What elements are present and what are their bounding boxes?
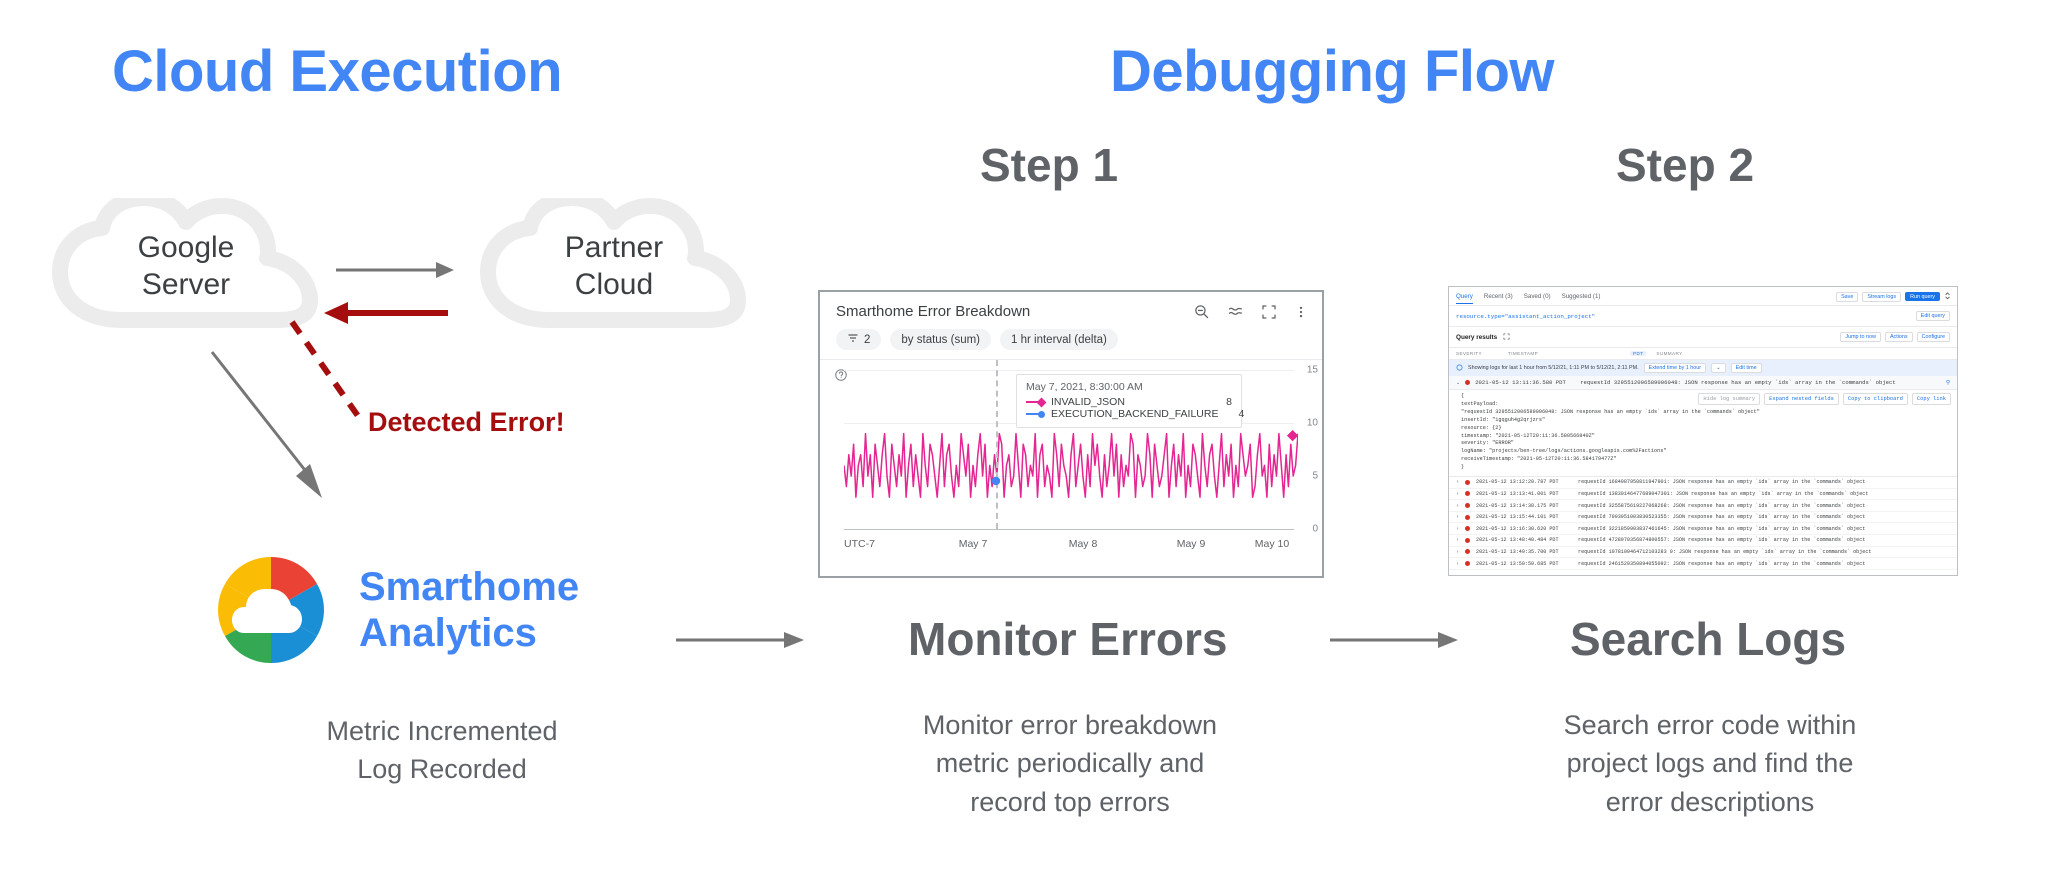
collapse-row-icon[interactable]: ⌄ [1456,380,1460,386]
chart-tooltip: May 7, 2021, 8:30:00 AM INVALID_JSON 8 E… [1016,374,1242,428]
expand-row-icon[interactable]: › [1456,503,1459,509]
arrow-google-to-analytics-icon [212,352,342,507]
severity-error-icon [1465,538,1470,543]
table-row[interactable]: › 2021-05-12 13:16:30.620 PDT requestId … [1449,523,1957,535]
arrow-analytics-to-step1-icon [676,628,806,652]
ytick-10: 10 [1307,418,1318,429]
step2-title: Step 2 [1616,138,1754,192]
expand-row-icon[interactable]: › [1456,549,1459,555]
json-line: resource: {2} [1461,425,1950,433]
row-summary: requestId 3221859903837461645: JSON resp… [1578,526,1865,532]
cloud-execution-caption: Metric Incremented Log Recorded [232,712,652,789]
row-summary: requestId 4728970356874800557: JSON resp… [1578,537,1865,543]
ytick-15: 15 [1307,365,1318,376]
fullscreen-icon[interactable] [1261,304,1277,320]
time-range-banner: Showing logs for last 1 hour from 5/12/2… [1449,360,1957,376]
logs-row-list: › 2021-05-12 13:12:20.787 PDT requestId … [1449,477,1957,570]
chart-card-header: Smarthome Error Breakdown [820,292,1322,322]
chart-type-icon[interactable] [1227,303,1244,320]
expand-row-icon[interactable]: › [1456,514,1459,520]
expand-row-icon[interactable]: › [1456,537,1459,543]
tooltip-series-name-1: INVALID_JSON [1051,396,1206,408]
monitoring-chart-card[interactable]: Smarthome Error Breakdown [818,290,1324,578]
selected-row-timestamp: 2021-05-12 13:11:36.580 PDT [1475,379,1575,386]
step2-caption: Search error code within project logs an… [1490,706,1930,821]
row-summary: requestId 1078109464712103283 0: JSON re… [1578,549,1871,555]
chip-filter[interactable]: 2 [836,329,881,350]
highlight-point-blue-icon [990,475,1002,487]
chart-cursor-line [996,360,998,529]
chart-plot-area[interactable]: 15 10 5 0 May 7, 2021, 8:30:00 AM INVALI… [820,359,1322,574]
col-timestamp: TIMESTAMP [1508,351,1620,356]
tooltip-series-name-2: EXECUTION_BACKEND_FAILURE [1051,408,1218,420]
col-severity: SEVERITY [1456,351,1498,356]
step2-caption-line-1: Search error code within [1490,706,1930,744]
severity-error-icon [1465,503,1470,508]
detected-error-label: Detected Error! [368,407,565,438]
row-summary: requestId 13830146477689047301: JSON res… [1578,491,1868,497]
selected-log-row[interactable]: ⌄ 2021-05-12 13:11:36.580 PDT requestId … [1449,376,1957,390]
ytick-5: 5 [1312,471,1318,482]
step1-caption-line-2: metric periodically and [860,744,1280,782]
extend-time-dropdown[interactable]: ⌄ [1711,363,1726,373]
partner-cloud: Partner Cloud [480,198,748,328]
json-line: } [1461,464,1950,472]
row-timestamp: 2021-05-12 13:48:40.484 PDT [1476,537,1572,543]
table-row[interactable]: › 2021-05-12 13:12:20.787 PDT requestId … [1449,477,1957,489]
expand-results-icon[interactable] [1503,333,1510,342]
zoom-out-icon[interactable] [1193,303,1210,320]
partner-cloud-line2: Cloud [575,267,653,304]
logs-column-headers: SEVERITY TIMESTAMP PDT SUMMARY [1449,348,1957,360]
tab-suggested[interactable]: Suggested (1) [1562,293,1601,303]
severity-error-icon [1465,380,1470,385]
row-timestamp: 2021-05-12 13:49:35.700 PDT [1476,549,1572,555]
severity-error-icon [1465,549,1470,554]
xtick-may9: May 9 [1177,538,1206,550]
chip-interval-label: 1 hr interval (delta) [1011,334,1107,346]
google-server-line1: Google [138,230,235,267]
table-row[interactable]: › 2021-05-12 13:15:44.101 PDT requestId … [1449,512,1957,524]
query-editor-row[interactable]: resource.type="assistant_action_project"… [1449,306,1957,327]
tooltip-series-value-1: 8 [1226,396,1232,408]
json-line: insertId: "1gqguh4g2qrjzrs" [1461,417,1950,425]
json-line: timestamp: "2021-05-12T20:11:36.58056684… [1461,433,1950,441]
json-line: "requestId 3295512006589006048: JSON res… [1461,409,1950,417]
json-line: severity: "ERROR" [1461,440,1950,448]
json-line: receiveTimestamp: "2021-05-12T20:11:36.5… [1461,456,1950,464]
row-timestamp: 2021-05-12 13:50:50.685 PDT [1476,561,1572,567]
table-row[interactable]: › 2021-05-12 13:50:50.685 PDT requestId … [1449,558,1957,570]
row-summary: requestId 1684987950811947901: JSON resp… [1578,479,1865,485]
table-row[interactable]: › 2021-05-12 13:48:40.484 PDT requestId … [1449,535,1957,547]
jump-to-now-button[interactable]: Jump to now [1840,332,1881,342]
step1-caption-line-1: Monitor error breakdown [860,706,1280,744]
step1-caption-line-3: record top errors [860,783,1280,821]
row-timestamp: 2021-05-12 13:16:30.620 PDT [1476,526,1572,532]
chip-filter-label: 2 [864,334,870,346]
highlight-point-pink-icon [1286,429,1300,443]
table-row[interactable]: › 2021-05-12 13:13:41.001 PDT requestId … [1449,489,1957,501]
query-results-header: Query results Jump to now Actions Config… [1449,327,1957,348]
legend-swatch-execution-backend-failure-icon [1026,411,1045,418]
tooltip-series-value-2: 4 [1238,408,1244,420]
chart-chip-row: 2 by status (sum) 1 hr interval (delta) [820,322,1322,359]
arrow-google-to-partner-icon [336,258,456,282]
tab-query[interactable]: Query [1456,293,1473,304]
save-button[interactable]: Save [1836,292,1858,302]
xtick-utc: UTC-7 [844,538,875,550]
query-results-title: Query results [1456,334,1497,341]
step1-caption: Monitor error breakdown metric periodica… [860,706,1280,821]
arrow-step1-to-step2-icon [1330,628,1460,652]
expand-row-icon[interactable]: › [1456,526,1459,532]
tooltip-timestamp: May 7, 2021, 8:30:00 AM [1026,381,1232,393]
xtick-may7: May 7 [959,538,988,550]
configure-menu-button[interactable]: Configure [1917,332,1950,342]
xtick-may10: May 10 [1255,538,1289,550]
chip-group-by[interactable]: by status (sum) [890,329,991,350]
tooltip-row-execution-backend-failure: EXECUTION_BACKEND_FAILURE 4 [1026,408,1232,420]
caption-line-2: Log Recorded [232,750,652,788]
logs-explorer-card[interactable]: Query Recent (3) Saved (0) Suggested (1)… [1448,286,1958,576]
row-timestamp: 2021-05-12 13:15:44.101 PDT [1476,514,1572,520]
legend-swatch-invalid-json-icon [1026,399,1045,406]
product-line2: Analytics [359,610,579,656]
smarthome-analytics-logo-block: Smarthome Analytics [205,555,579,665]
col-timezone-selector[interactable]: PDT [1630,351,1646,356]
severity-error-icon [1465,526,1470,531]
logs-tab-bar: Query Recent (3) Saved (0) Suggested (1)… [1449,287,1957,306]
step2-caption-line-3: error descriptions [1490,783,1930,821]
row-summary: requestId 2461529350894055092: JSON resp… [1578,561,1865,567]
ytick-0: 0 [1312,524,1318,535]
run-query-button[interactable]: Run query [1905,292,1940,301]
tab-saved[interactable]: Saved (0) [1524,293,1551,303]
query-text[interactable]: resource.type="assistant_action_project" [1456,313,1916,320]
row-timestamp: 2021-05-12 13:13:41.001 PDT [1476,491,1572,497]
google-cloud-logo-icon [205,555,337,665]
table-row[interactable]: › 2021-05-12 13:14:38.175 PDT requestId … [1449,500,1957,512]
tooltip-row-invalid-json: INVALID_JSON 8 [1026,396,1232,408]
hide-log-summary-button[interactable]: Hide log summary [1698,393,1760,405]
collapse-chevron-icon[interactable] [1944,291,1951,302]
xtick-may8: May 8 [1069,538,1098,550]
row-timestamp: 2021-05-12 13:14:38.175 PDT [1476,503,1572,509]
row-summary: requestId 3255875619227068268: JSON resp… [1578,503,1865,509]
step2-label: Search Logs [1570,612,1846,666]
step1-title: Step 1 [980,138,1118,192]
expand-row-icon[interactable]: › [1456,491,1459,497]
row-timestamp: 2021-05-12 13:12:20.787 PDT [1476,479,1572,485]
edit-query-button[interactable]: Edit query [1916,311,1950,321]
col-summary: SUMMARY [1656,351,1682,356]
page-title-debugging-flow: Debugging Flow [1110,38,1554,105]
severity-error-icon [1465,491,1470,496]
step1-label: Monitor Errors [908,612,1227,666]
banner-text: Showing logs for last 1 hour from 5/12/2… [1468,365,1639,371]
smarthome-analytics-title: Smarthome Analytics [359,564,579,656]
partner-cloud-label: Partner Cloud [480,198,748,332]
caption-line-1: Metric Incremented [232,712,652,750]
x-axis-line [844,529,1294,530]
copy-link-button[interactable]: Copy link [1912,393,1951,405]
expand-row-icon[interactable]: › [1456,479,1459,485]
row-summary: requestId 7093951003830523355: JSON resp… [1578,514,1865,520]
severity-error-icon [1465,561,1470,566]
table-row[interactable]: › 2021-05-12 13:49:35.700 PDT requestId … [1449,547,1957,559]
partner-cloud-line1: Partner [565,230,663,267]
expand-row-icon[interactable]: › [1456,561,1459,567]
stream-logs-button[interactable]: Stream logs [1862,292,1901,302]
actions-menu-button[interactable]: Actions [1885,332,1913,342]
info-icon [1456,364,1463,373]
tab-recent[interactable]: Recent (3) [1484,293,1513,303]
filter-icon [847,332,859,347]
selected-row-summary: requestId 3295512006589006048: JSON resp… [1580,379,1896,386]
chip-group-by-label: by status (sum) [901,334,980,346]
copy-to-clipboard-button[interactable]: Copy to clipboard [1843,393,1908,405]
google-server-label: Google Server [52,198,320,332]
severity-error-icon [1465,480,1470,485]
expand-nested-fields-button[interactable]: Expand nested fields [1764,393,1839,405]
chart-title: Smarthome Error Breakdown [836,303,1193,320]
page-title-cloud-execution: Cloud Execution [112,38,562,105]
severity-error-icon [1465,515,1470,520]
product-line1: Smarthome [359,564,579,610]
edit-time-button[interactable]: Edit time [1731,363,1762,373]
pin-icon[interactable]: ⚲ [1946,380,1950,386]
log-entry-json: Hide log summary Expand nested fields Co… [1449,390,1957,477]
step2-caption-line-2: project logs and find the [1490,744,1930,782]
json-line: logName: "projects/ben-tree/logs/actions… [1461,448,1950,456]
google-server-line2: Server [142,267,230,304]
more-vert-icon[interactable] [1294,304,1308,320]
google-server-cloud: Google Server [52,198,320,328]
chip-interval[interactable]: 1 hr interval (delta) [1000,329,1118,350]
extend-time-button[interactable]: Extend time by 1 hour [1644,363,1706,373]
